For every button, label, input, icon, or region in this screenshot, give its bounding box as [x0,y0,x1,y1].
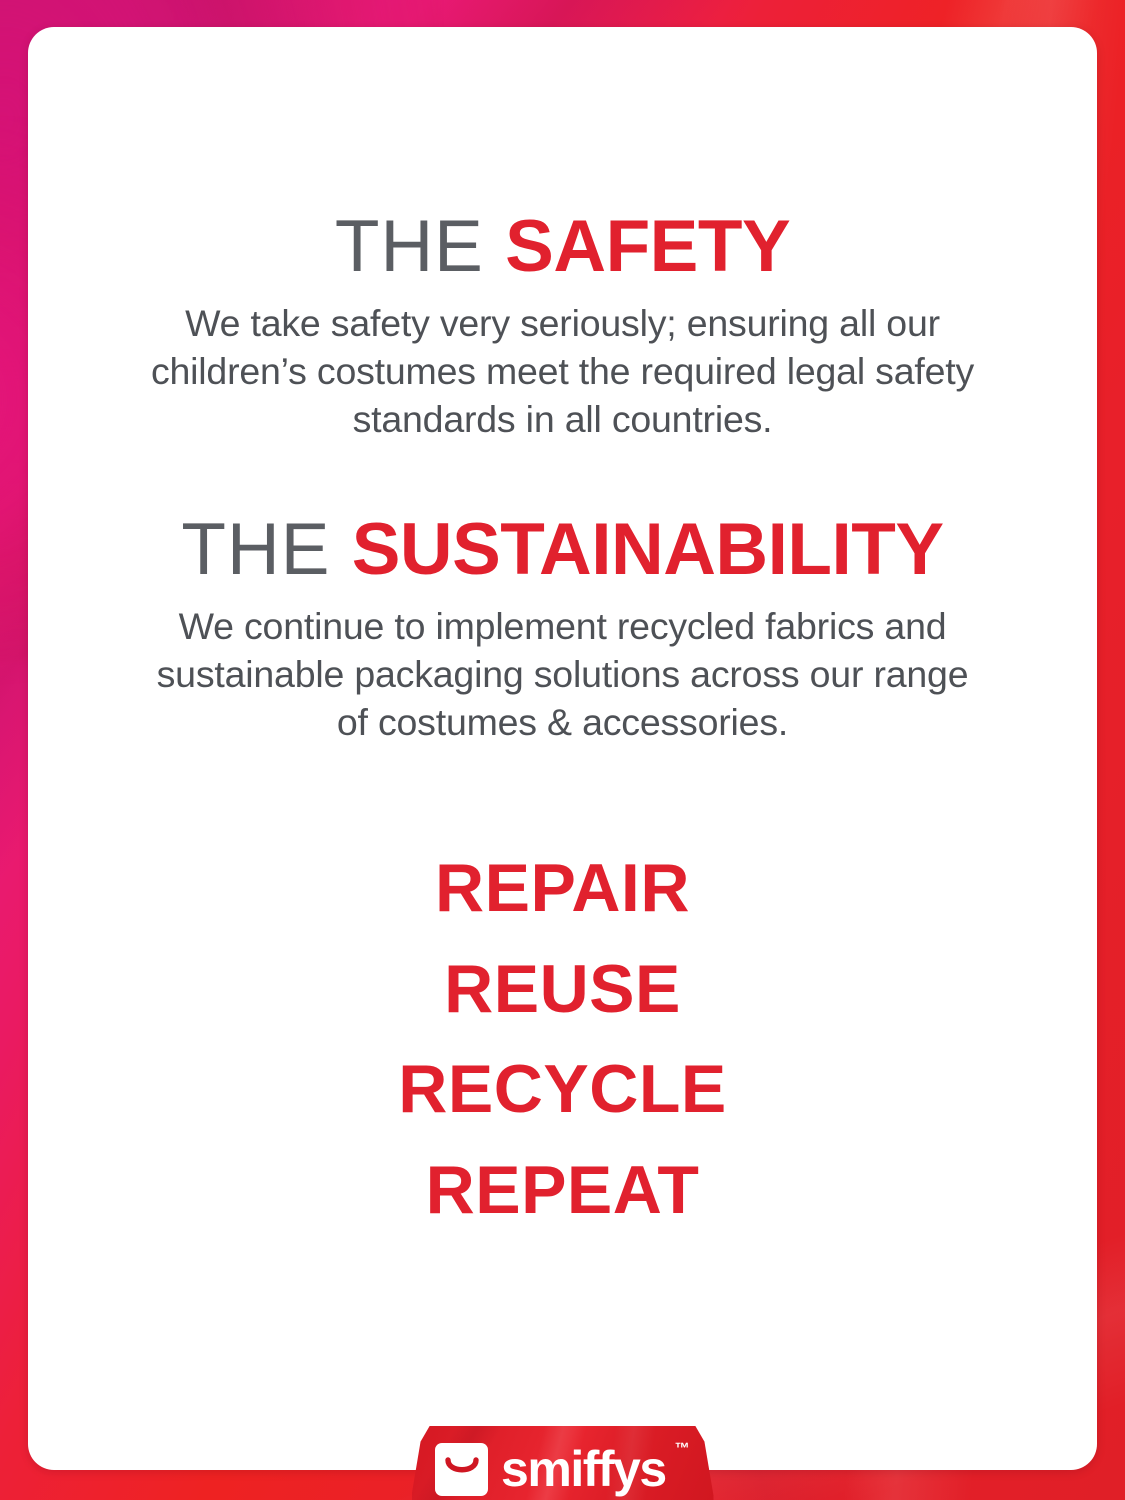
section-safety: THE SAFETY We take safety very seriously… [86,210,1039,443]
heading-sustainability-highlight: SUSTAINABILITY [352,509,944,590]
smiffys-logo: smiffys ™ [412,1426,714,1500]
body-safety: We take safety very seriously; ensuring … [143,299,983,443]
smiffys-wordmark: smiffys [501,1444,666,1494]
content-card-inner: THE SAFETY We take safety very seriously… [28,27,1097,1470]
heading-sustainability-prefix: THE [181,509,351,590]
heading-sustainability: THE SUSTAINABILITY [86,513,1039,586]
smile-arc-icon [435,1443,488,1496]
slogan-line-recycle: RECYCLE [86,1039,1039,1140]
slogan-list: REPAIR REUSE RECYCLE REPEAT [86,838,1039,1241]
slogan-line-reuse: REUSE [86,939,1039,1040]
heading-safety-prefix: THE [335,206,505,287]
section-sustainability: THE SUSTAINABILITY We continue to implem… [86,513,1039,746]
body-sustainability: We continue to implement recycled fabric… [153,602,973,746]
poster: THE SAFETY We take safety very seriously… [0,0,1125,1500]
content-card: THE SAFETY We take safety very seriously… [28,27,1097,1470]
slogan-line-repair: REPAIR [86,838,1039,939]
heading-safety: THE SAFETY [86,210,1039,283]
slogan-line-repeat: REPEAT [86,1140,1039,1241]
heading-safety-highlight: SAFETY [505,206,790,287]
trademark-symbol: ™ [675,1440,690,1457]
